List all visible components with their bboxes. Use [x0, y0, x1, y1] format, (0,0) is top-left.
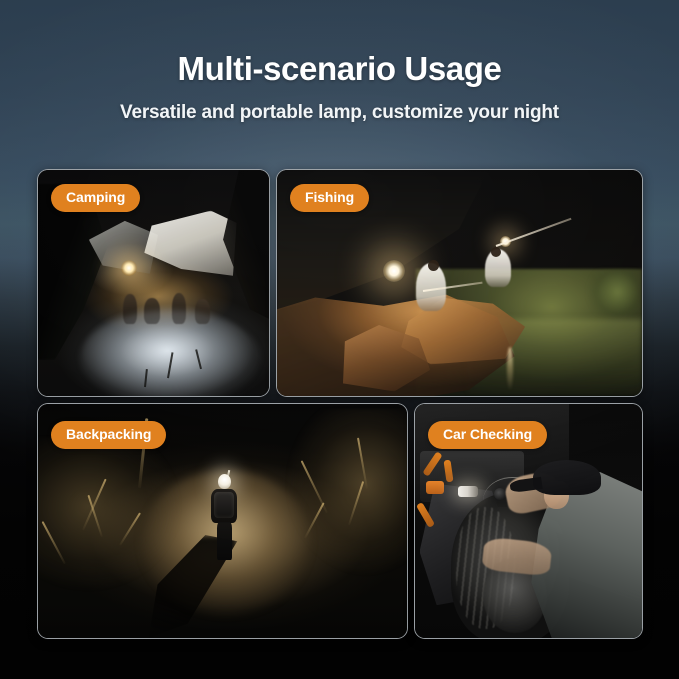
scenario-badge-fishing: Fishing — [290, 184, 369, 212]
page-title: Multi-scenario Usage — [0, 0, 679, 88]
scenario-badge-backpacking: Backpacking — [51, 421, 166, 449]
work-lamp-light — [458, 486, 478, 497]
backpacking-hiker-headlamp — [218, 474, 231, 489]
fishing-angler-head — [491, 247, 501, 257]
person-cap — [533, 460, 601, 495]
camping-light-pool — [80, 310, 260, 396]
scenario-card-fishing[interactable]: Fishing — [276, 169, 643, 397]
work-lamp-body — [426, 481, 444, 494]
scenario-badge-camping: Camping — [51, 184, 140, 212]
page-header: Multi-scenario Usage Versatile and porta… — [0, 0, 679, 125]
fishing-water-reflection — [507, 347, 513, 391]
backpacking-grass-right — [274, 409, 407, 596]
scenario-card-backpacking[interactable]: Backpacking — [37, 403, 408, 639]
scenario-card-car-checking[interactable]: Car Checking — [414, 403, 643, 639]
backpacking-hiker — [209, 474, 239, 560]
scenario-grid: Camping Fis — [37, 169, 642, 639]
promo-page: Multi-scenario Usage Versatile and porta… — [0, 0, 679, 679]
backpacking-backpack — [214, 492, 234, 518]
page-subtitle: Versatile and portable lamp, customize y… — [0, 88, 679, 125]
scenario-badge-car-checking: Car Checking — [428, 421, 547, 449]
fishing-foliage — [587, 269, 638, 314]
backpacking-hiker-legs — [217, 522, 232, 560]
scenario-card-camping[interactable]: Camping — [37, 169, 270, 397]
